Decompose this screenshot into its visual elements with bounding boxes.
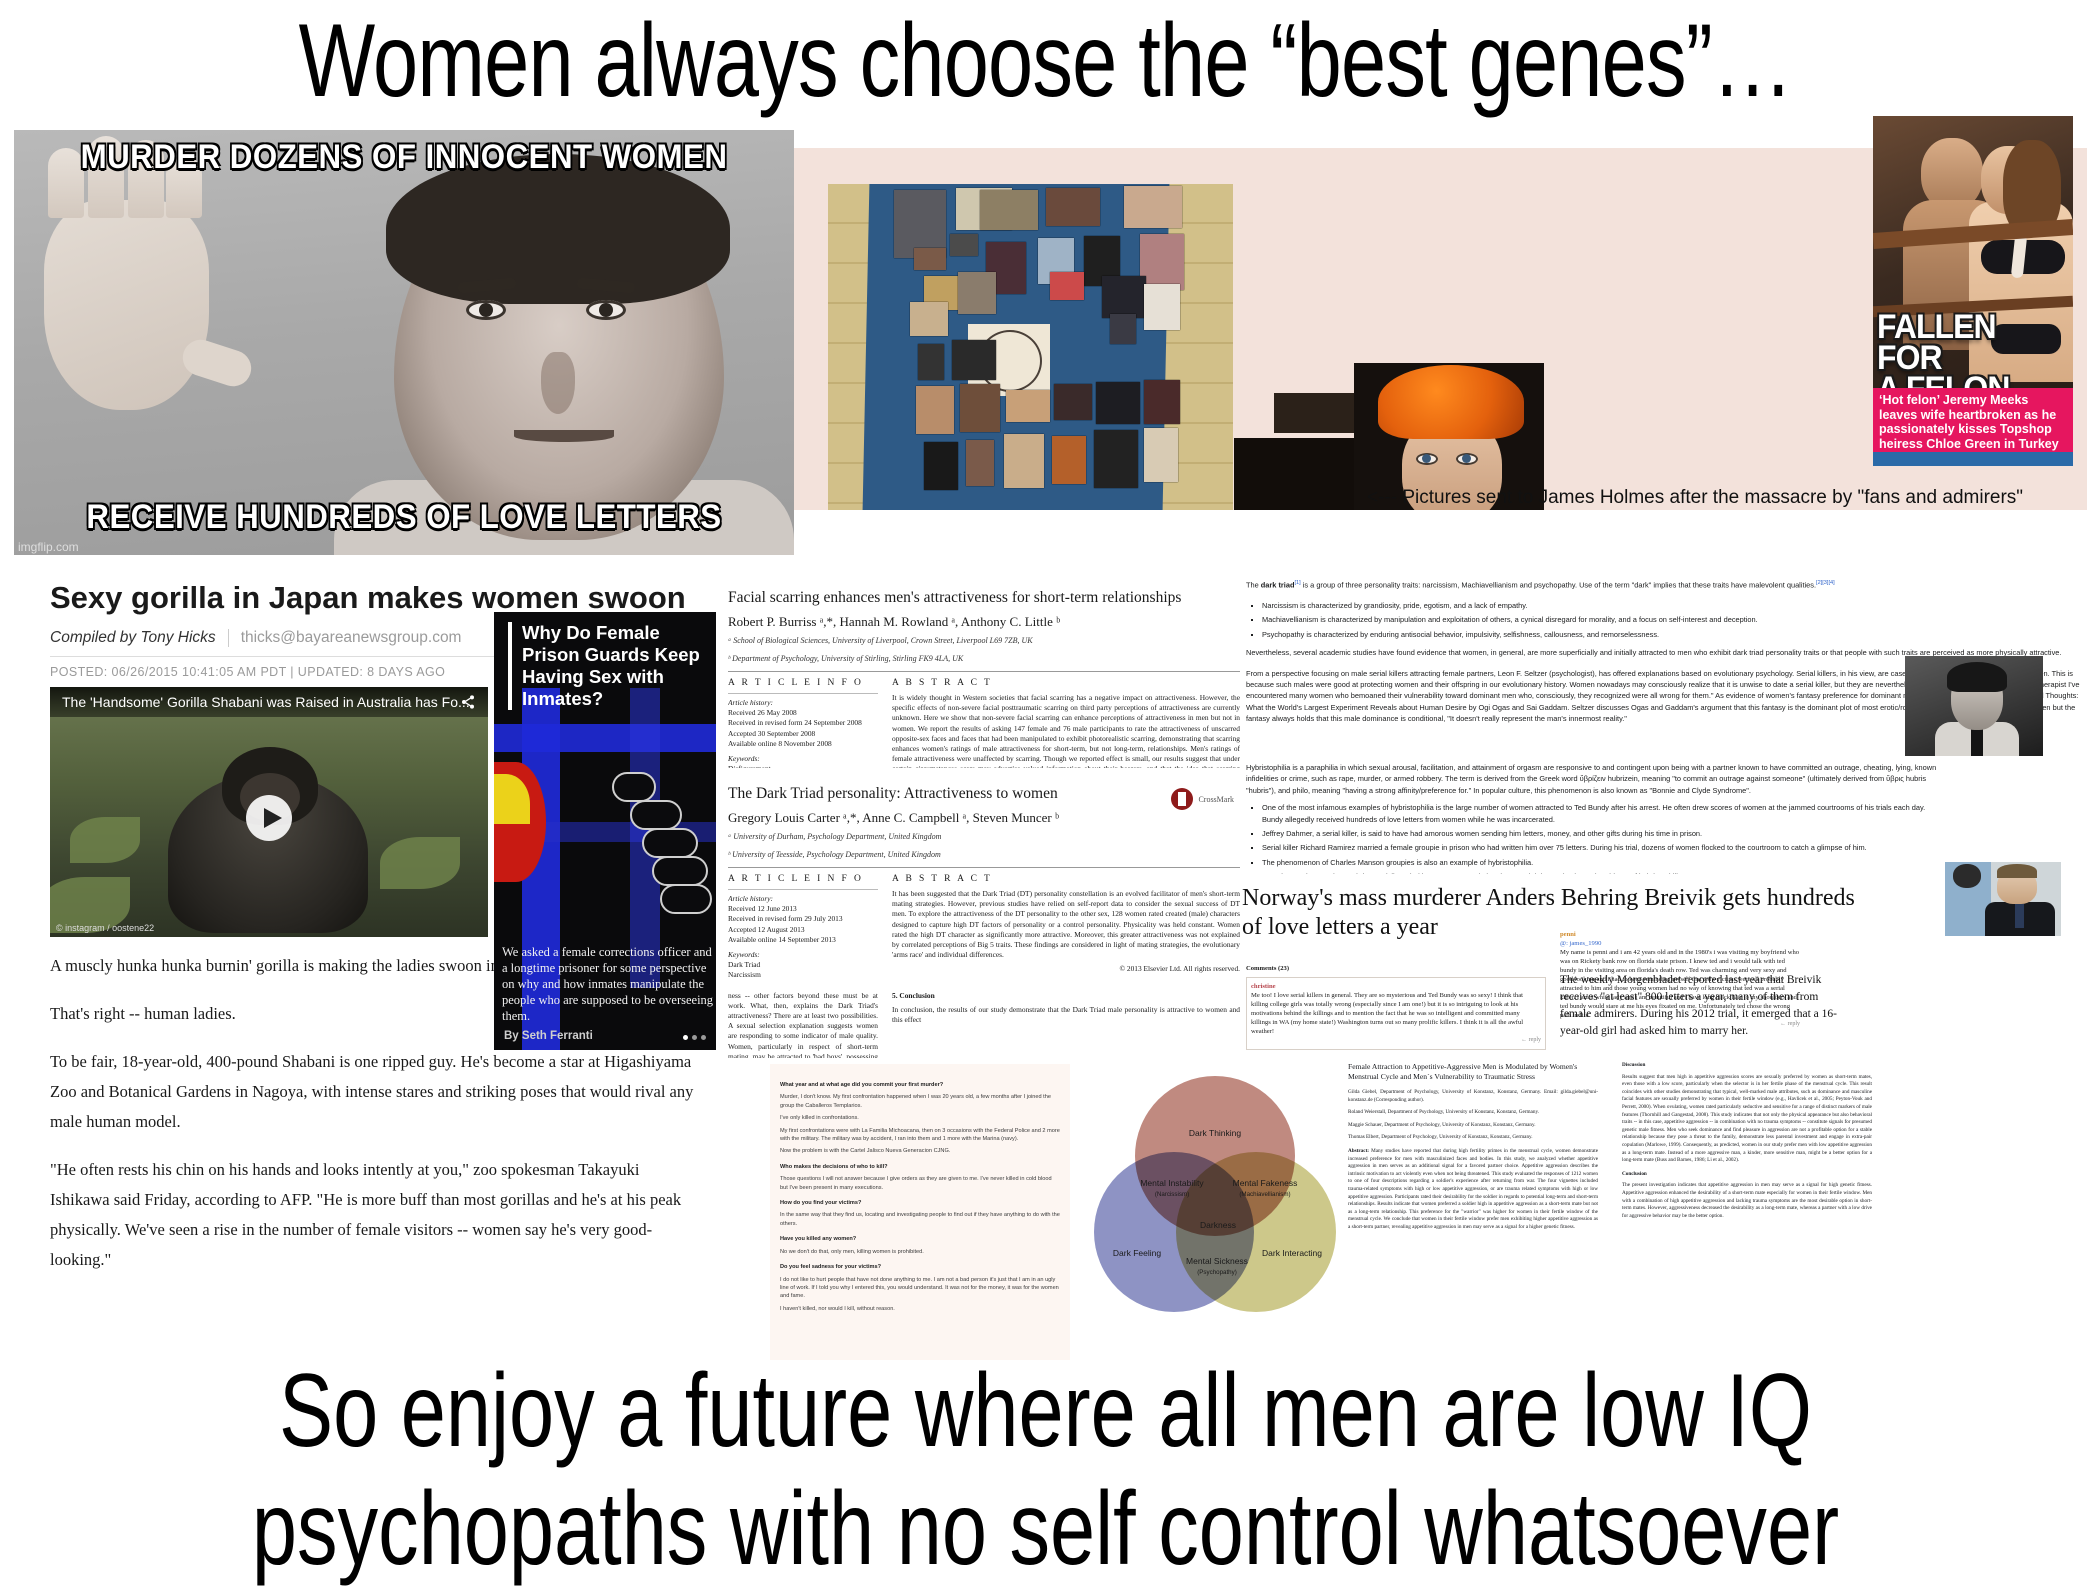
hybris-intro: Hybristophilia is a paraphilia in which … xyxy=(1246,762,1946,796)
prison-wall-photo xyxy=(828,184,1233,510)
hybris-item: Serial killer Richard Ramirez married a … xyxy=(1262,842,1946,853)
venn-psycho-sub: (Psychopathy) xyxy=(1182,1267,1252,1278)
abstract-label: Abstract: xyxy=(1348,1148,1369,1154)
felon-deck: ‘Hot felon’ Jeremy Meeks leaves wife hea… xyxy=(1873,388,2073,452)
interview-answer: My first confrontations were with La Fam… xyxy=(780,1127,1060,1144)
wiki-trait-item: Narcissism is characterized by grandiosi… xyxy=(1262,600,2088,611)
waving-hand-icon xyxy=(44,200,209,410)
appet-author: Roland Weierstall, Department of Psychol… xyxy=(1348,1109,1598,1117)
venn-mach-sub: (Machiavellianism) xyxy=(1226,1189,1304,1200)
copyright: © 2013 Elsevier Ltd. All rights reserved… xyxy=(892,964,1240,974)
comment-item: penni @: james_1990 My name is penni and… xyxy=(1560,930,1800,1029)
interview-answer: Those questions I will not answer becaus… xyxy=(780,1175,1060,1192)
keywords-label: Keywords: xyxy=(728,950,760,959)
vice-prison-guards-article: Why Do Female Prison Guards Keep Having … xyxy=(494,612,716,1050)
share-icon[interactable] xyxy=(460,694,476,710)
interview-question: Have you killed any women? xyxy=(780,1235,1060,1243)
paper-title: Facial scarring enhances men's attractiv… xyxy=(728,588,1240,608)
paper-affiliation: ᵃ School of Biological Sciences, Univers… xyxy=(728,635,1240,646)
conclusion-paragraph: The present investigation indicates that… xyxy=(1622,1182,1872,1220)
cartel-interview-document: What year and at what age did you commit… xyxy=(770,1064,1070,1360)
comment-body: My name is penni and i am 42 years old a… xyxy=(1560,948,1800,1020)
comment-item: christine Me too! I love serial killers … xyxy=(1246,977,1546,1050)
venn-mach-title: Mental Fakeness xyxy=(1233,1178,1298,1188)
vice-author: By Seth Ferranti xyxy=(504,1030,593,1042)
video-title-bar: The 'Handsome' Gorilla Shabani was Raise… xyxy=(50,687,488,717)
wiki-intro-pre: The xyxy=(1246,580,1261,589)
top-caption: Women always choose the “best genes”… xyxy=(230,2,1861,122)
bottom-caption: So enjoy a future where all men are low … xyxy=(230,1352,1861,1592)
interview-question: Who makes the decisions of who to kill? xyxy=(780,1163,1060,1171)
carousel-dots[interactable] xyxy=(683,1035,706,1040)
bottom-caption-line1: So enjoy a future where all men are low … xyxy=(230,1352,1861,1470)
venn-label-narcissism: Mental Instability (Narcissism) xyxy=(1140,1178,1204,1200)
article-info-head: A R T I C L E I N F O xyxy=(728,678,878,688)
comment-author: christine xyxy=(1251,982,1541,991)
history-item: Available online 14 September 2013 xyxy=(728,935,878,945)
abstract-head: A B S T R A C T xyxy=(892,678,1240,688)
history-label: Article history: xyxy=(728,894,773,903)
interview-answer: I've only killed in confrontations. xyxy=(780,1114,1060,1122)
abstract-text: It has been suggested that the Dark Tria… xyxy=(892,889,1240,960)
venn-label-machiavellianism: Mental Fakeness (Machiavellianism) xyxy=(1226,1178,1304,1200)
hybris-item: The phenomenon of Charles Manson groupie… xyxy=(1262,857,1946,868)
keywords-label: Keywords: xyxy=(728,754,760,763)
venn-narcissism-sub: (Narcissism) xyxy=(1140,1189,1204,1200)
abstract-head: A B S T R A C T xyxy=(892,874,1240,884)
conclusion-heading: Conclusion xyxy=(1622,1171,1872,1179)
meme-bottom-text: RECEIVE HUNDREDS OF LOVE LETTERS xyxy=(45,498,763,537)
appet-title: Female Attraction to Appetitive-Aggressi… xyxy=(1348,1062,1598,1082)
ted-bundy-meme-image: MURDER DOZENS OF INNOCENT WOMEN RECEIVE … xyxy=(14,130,794,555)
venn-narcissism-title: Mental Instability xyxy=(1140,1178,1203,1188)
appet-author: Maggie Schauer, Department of Psychology… xyxy=(1348,1122,1598,1130)
holmes-caption-text: <--- Pictures sent to James Holmes after… xyxy=(1367,487,2023,509)
venn-label-left: Dark Feeling xyxy=(1102,1248,1172,1259)
history-item: Accepted 30 September 2008 xyxy=(728,729,878,739)
conclusion-text: In conclusion, the results of our study … xyxy=(892,1005,1240,1025)
ted-bundy-courtroom-photo xyxy=(1905,656,2043,756)
venn-label-center: Darkness xyxy=(1178,1220,1258,1231)
wiki-intro-post: is a group of three personality traits: … xyxy=(1301,580,1816,589)
video-credit: © instagram / oostene22 xyxy=(56,923,154,933)
wiki-trait-list: Narcissism is characterized by grandiosi… xyxy=(1246,600,2088,640)
hybris-item: Jeffrey Dahmer, a serial killer, is said… xyxy=(1262,828,1946,839)
venn-label-right: Dark Interacting xyxy=(1254,1248,1330,1259)
comment-reply-target[interactable]: @: james_1990 xyxy=(1560,939,1800,948)
appet-author: Gilda Giebel, Department of Psychology, … xyxy=(1348,1089,1598,1104)
history-item: Received in revised form 24 September 20… xyxy=(728,718,878,728)
paper-title: The Dark Triad personality: Attractivene… xyxy=(728,784,1240,804)
paper-fragment: ness -- other factors beyond these must … xyxy=(728,991,878,1058)
conclusion-head: 5. Conclusion xyxy=(892,991,1240,1001)
crossmark-label: CrossMark xyxy=(1198,795,1234,804)
crossmark-badge: CrossMark xyxy=(1171,788,1234,810)
comment-body: Me too! I love serial killers in general… xyxy=(1251,991,1541,1036)
breivik-courtroom-photo xyxy=(1945,862,2061,936)
venn-circle-dark-interacting xyxy=(1176,1152,1336,1312)
vice-title: Why Do Female Prison Guards Keep Having … xyxy=(508,622,714,710)
history-label: Article history: xyxy=(728,698,773,707)
paper-dark-triad: CrossMark The Dark Triad personality: At… xyxy=(728,784,1240,1058)
bottom-caption-line2: psychopaths with no self control whatsoe… xyxy=(230,1470,1861,1588)
comment-author: penni xyxy=(1560,930,1800,939)
gorilla-author: Compiled by Tony Hicks xyxy=(50,629,216,647)
breivik-love-letters-article: Norway's mass murderer Anders Behring Br… xyxy=(1242,884,1872,1072)
gorilla-author-email[interactable]: thicks@bayareanewsgroup.com xyxy=(228,629,462,647)
hybris-item: Terrorists such as Anders Behring Breivi… xyxy=(1262,871,1946,874)
wiki-trait-item: Machiavellianism is characterized by man… xyxy=(1262,614,2088,625)
history-item: Received 12 June 2013 xyxy=(728,904,878,914)
video-title: The 'Handsome' Gorilla Shabani was Raise… xyxy=(62,694,470,710)
history-item: Accepted 12 August 2013 xyxy=(728,925,878,935)
dark-triad-venn-diagram: Dark Thinking Dark Feeling Dark Interact… xyxy=(1090,1070,1340,1320)
appet-author: Thomas Elbert, Department of Psychology,… xyxy=(1348,1134,1598,1142)
paper-affiliation: ᵇ Department of Psychology, University o… xyxy=(728,653,1240,664)
play-icon[interactable] xyxy=(246,795,292,841)
history-item: Received in revised form 29 July 2013 xyxy=(728,914,878,924)
keyword: Dark Triad xyxy=(728,960,878,970)
crossmark-icon xyxy=(1171,788,1193,810)
wiki-trait-item: Psychopathy is characterized by enduring… xyxy=(1262,629,2088,640)
appetitive-discussion-column: Discussion Results suggest that men high… xyxy=(1622,1062,1872,1362)
gorilla-paragraph: "He often rests his chin on his hands an… xyxy=(50,1155,696,1275)
paper-affiliation: ᵃ University of Durham, Psychology Depar… xyxy=(728,831,1240,842)
discussion-heading: Discussion xyxy=(1622,1062,1872,1070)
wiki-intro: The dark triad[1] is a group of three pe… xyxy=(1246,578,2088,591)
interview-answer: I do not like to hurt people that have n… xyxy=(780,1276,1060,1301)
meme-top-text: MURDER DOZENS OF INNOCENT WOMEN xyxy=(45,138,763,177)
gorilla-video-player[interactable]: The 'Handsome' Gorilla Shabani was Raise… xyxy=(50,687,488,937)
comments-section: Comments (23) christine Me too! I love s… xyxy=(1246,964,1546,1072)
paper-affiliation: ᵇ University of Teesside, Psychology Dep… xyxy=(728,849,1240,860)
hand-behind-bars-icon xyxy=(612,772,716,922)
interview-answer: No we don't do that, only men, killing w… xyxy=(780,1248,1060,1256)
article-info-head: A R T I C L E I N F O xyxy=(728,874,878,884)
vice-dek: We asked a female corrections officer an… xyxy=(502,944,716,1024)
comments-header: Comments (23) xyxy=(1246,964,1546,973)
paper-authors: Robert P. Burriss ᵃ,*, Hannah M. Rowland… xyxy=(728,614,1240,630)
history-item: Available online 8 November 2008 xyxy=(728,739,878,749)
keyword: Disfigurement xyxy=(728,764,878,768)
history-item: Received 26 May 2008 xyxy=(728,708,878,718)
interview-answer: Murder, I don't know. My first confronta… xyxy=(780,1093,1060,1110)
reply-link[interactable]: ← reply xyxy=(1251,1036,1541,1045)
reply-link[interactable]: ← reply xyxy=(1560,1020,1800,1029)
fallen-for-a-felon-tabloid: FALLEN FOR A FELON ‘Hot felon’ Jeremy Me… xyxy=(1873,116,2073,466)
hybris-list: One of the most infamous examples of hyb… xyxy=(1246,802,1946,874)
venn-psycho-title: Mental Sickness xyxy=(1186,1256,1248,1266)
discussion-paragraph: Results suggest that men high in appetit… xyxy=(1622,1074,1872,1165)
imgflip-watermark: imgflip.com xyxy=(18,540,79,554)
keyword: Narcissism xyxy=(728,970,878,980)
wiki-intro-bold: dark triad xyxy=(1261,580,1295,589)
interview-answer: Now the problem is with the Cartel Jalis… xyxy=(780,1147,1060,1155)
interview-question: Do you feel sadness for your victims? xyxy=(780,1263,1060,1271)
paper-authors: Gregory Louis Carter ᵃ,*, Anne C. Campbe… xyxy=(728,810,1240,826)
wikipedia-hybristophilia-section: Hybristophilia is a paraphilia in which … xyxy=(1246,762,1946,874)
appet-abstract: Many studies have reported that during h… xyxy=(1348,1148,1598,1230)
venn-label-top: Dark Thinking xyxy=(1175,1128,1255,1139)
hybris-item: One of the most infamous examples of hyb… xyxy=(1262,802,1946,825)
abstract-text: It is widely thought in Western societie… xyxy=(892,693,1240,768)
interview-question: How do you find your victims? xyxy=(780,1199,1060,1207)
interview-answer: I haven't killed, nor would I kill, with… xyxy=(780,1305,1060,1313)
felon-headline-line1: FALLEN FOR xyxy=(1877,308,1996,377)
meme-collage: Women always choose the “best genes”… MU… xyxy=(0,0,2091,1593)
read-strip xyxy=(1873,452,2073,466)
interview-answer: In the same way that they find us, locat… xyxy=(780,1211,1060,1228)
interview-question: What year and at what age did you commit… xyxy=(780,1081,1060,1089)
appetitive-aggression-paper: Female Attraction to Appetitive-Aggressi… xyxy=(1348,1062,1598,1362)
paper-facial-scarring: Facial scarring enhances men's attractiv… xyxy=(728,588,1240,768)
venn-label-psychopathy: Mental Sickness (Psychopathy) xyxy=(1182,1256,1252,1278)
gorilla-paragraph: To be fair, 18-year-old, 400-pound Shaba… xyxy=(50,1047,696,1137)
